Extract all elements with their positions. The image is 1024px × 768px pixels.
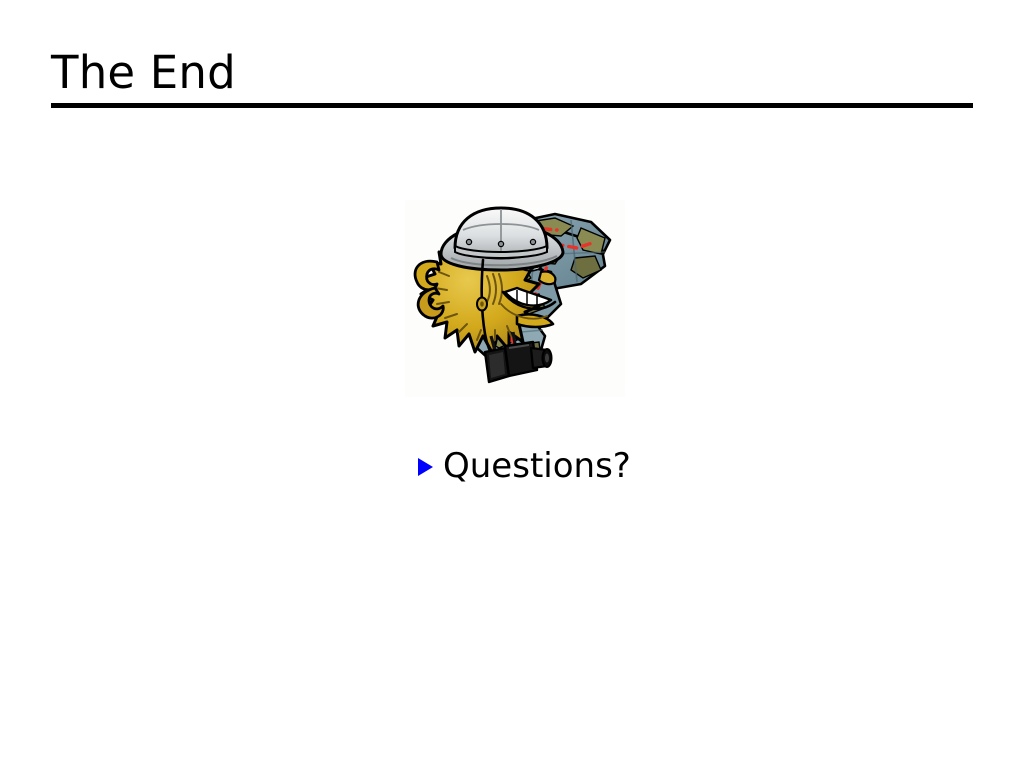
title-block: The End (51, 47, 973, 99)
list-item: Questions? (418, 446, 631, 486)
slide: The End (0, 0, 1024, 768)
bullet-text: Questions? (443, 446, 631, 486)
puffy-tourist-illustration (405, 200, 625, 397)
mascot-image (405, 200, 625, 397)
page-title: The End (51, 47, 973, 99)
title-divider (51, 103, 973, 108)
triangle-right-icon (418, 458, 433, 476)
